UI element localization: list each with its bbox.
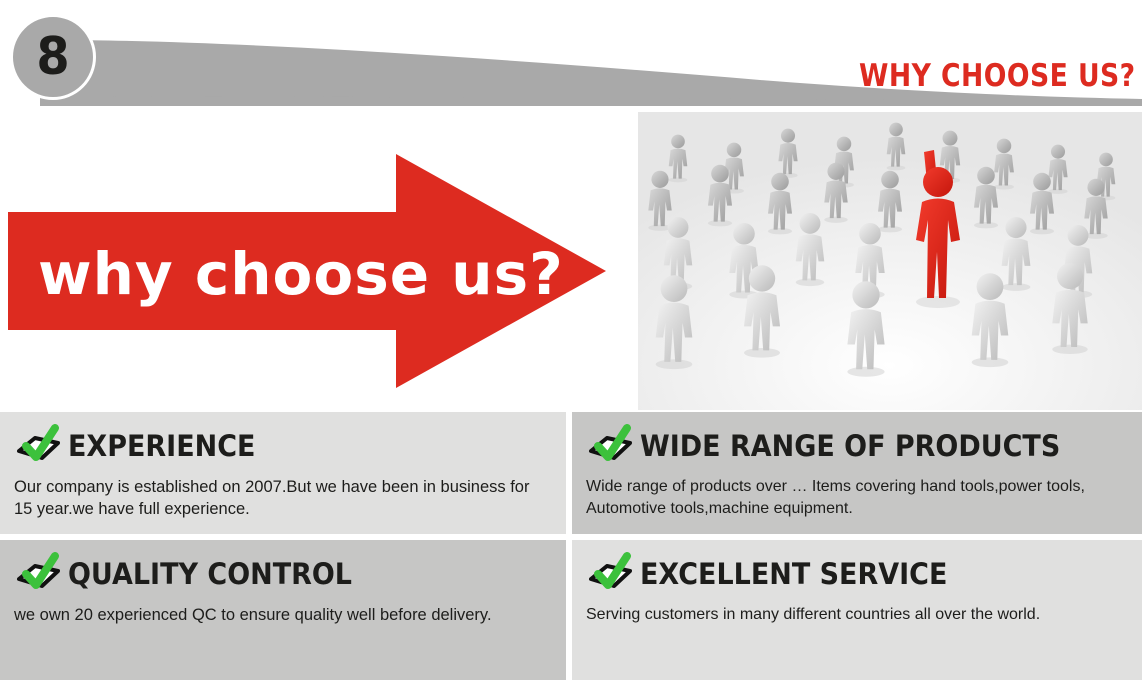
section-number-label: 8 <box>37 31 69 83</box>
feature-panels: EXPERIENCE Our company is established on… <box>0 412 1142 680</box>
panel-heading-row: WIDE RANGE OF PRODUCTS <box>586 422 1128 470</box>
crowd-photo <box>638 112 1142 410</box>
green-check-box-icon <box>586 552 636 596</box>
crowd-illustration <box>638 112 1142 410</box>
feature-panel-quality-control: QUALITY CONTROL we own 20 experienced QC… <box>0 540 566 680</box>
header-swoosh-graphic <box>0 0 1142 112</box>
page-header: 8 WHY CHOOSE US? <box>0 0 1142 112</box>
panel-heading-row: QUALITY CONTROL <box>14 550 552 598</box>
panel-heading-row: EXCELLENT SERVICE <box>586 550 1128 598</box>
panel-body: Wide range of products over … Items cove… <box>586 476 1128 519</box>
feature-panel-excellent-service: EXCELLENT SERVICE Serving customers in m… <box>572 540 1142 680</box>
panel-body: we own 20 experienced QC to ensure quali… <box>14 604 552 626</box>
page-title: WHY CHOOSE US? <box>859 58 1136 94</box>
panel-body: Our company is established on 2007.But w… <box>14 476 552 521</box>
panel-title: WIDE RANGE OF PRODUCTS <box>640 432 1060 461</box>
hero-section: why choose us? <box>0 112 1142 410</box>
feature-panel-wide-range-of-products: WIDE RANGE OF PRODUCTS Wide range of pro… <box>572 412 1142 534</box>
panel-title: EXPERIENCE <box>68 432 255 461</box>
green-check-box-icon <box>586 424 636 468</box>
section-number-badge: 8 <box>10 14 96 100</box>
panel-title: QUALITY CONTROL <box>68 560 352 589</box>
panel-title: EXCELLENT SERVICE <box>640 560 947 589</box>
arrow-graphic-block: why choose us? <box>0 112 640 410</box>
panel-body: Serving customers in many different coun… <box>586 604 1128 626</box>
arrow-label: why choose us? <box>38 240 558 308</box>
green-check-box-icon <box>14 424 64 468</box>
panel-heading-row: EXPERIENCE <box>14 422 552 470</box>
green-check-box-icon <box>14 552 64 596</box>
feature-panel-experience: EXPERIENCE Our company is established on… <box>0 412 566 534</box>
